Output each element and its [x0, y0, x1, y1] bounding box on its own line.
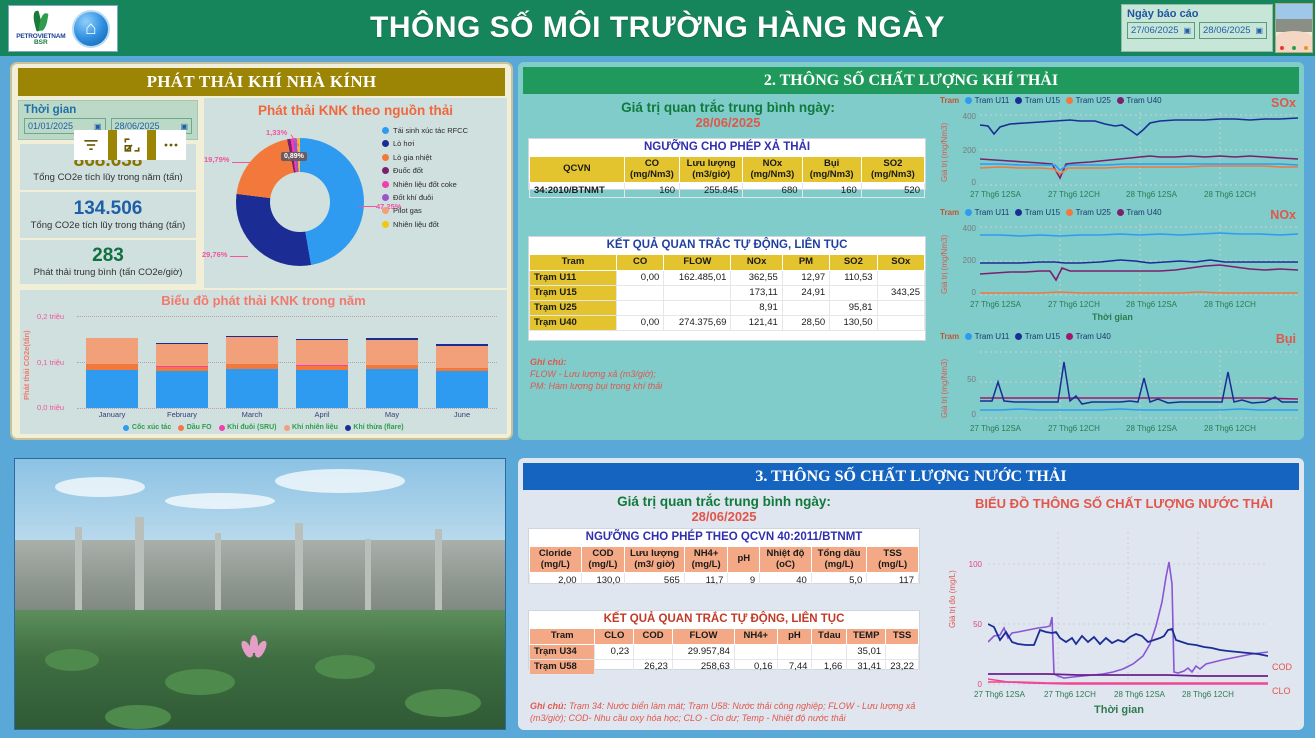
column-header[interactable]: Cloride (mg/L): [530, 547, 582, 573]
legend-swatch: [382, 194, 389, 201]
cell: 23,22: [886, 659, 919, 674]
bar-segment: [226, 369, 278, 408]
table-row: Trạm U58 26,23 258,63 0,16 7,44 1,66 31,…: [530, 659, 919, 674]
cell: [595, 659, 634, 674]
legend-label: Nhiên liệu đốt: [393, 220, 439, 229]
legend-label: Tram U25: [1076, 208, 1111, 217]
legend-item[interactable]: Tái sinh xúc tác RFCC: [382, 126, 502, 135]
table-row: Trạm U15 173,11 24,91 343,25: [530, 285, 925, 300]
wq-plot: [988, 532, 1268, 690]
water-quality-line-chart: BIỂU ĐỒ THÔNG SỐ CHẤT LƯỢNG NƯỚC THẢI Gi…: [946, 492, 1302, 728]
column-header[interactable]: NH4+: [734, 629, 777, 645]
column-header[interactable]: Bụi (mg/Nm3): [802, 157, 861, 183]
bar-column[interactable]: [77, 316, 147, 408]
nox-xtick: 28 Thg6 12CH: [1204, 300, 1256, 309]
cell: 11,7: [684, 573, 728, 588]
cell: 31,41: [847, 659, 886, 674]
legend-label: Tram U40: [1126, 96, 1161, 105]
report-date-from-value: 27/06/2025: [1131, 25, 1179, 36]
legend-label: Tram U15: [1025, 332, 1060, 341]
kpi-card-average: 283 Phát thải trung bình (tấn CO2e/giờ): [20, 240, 196, 284]
legend-label: Tram U40: [1126, 208, 1161, 217]
water-section-title: 3. THÔNG SỐ CHẤT LƯỢNG NƯỚC THẢI: [523, 463, 1299, 490]
legend-swatch: [382, 167, 389, 174]
cell: 9: [728, 573, 760, 588]
legend-item[interactable]: Tram U15: [1015, 332, 1060, 341]
cell: 160: [802, 183, 861, 198]
cell: [812, 644, 847, 659]
legend-label: Lò hơi: [393, 139, 414, 148]
cell: 34:2010/BTNMT: [530, 183, 625, 198]
cell: Trạm U40: [530, 315, 617, 330]
nox-xtitle: Thời gian: [1092, 312, 1133, 322]
cell: 162.485,01: [664, 270, 731, 285]
column-header[interactable]: TEMP: [847, 629, 886, 645]
cell: 8,91: [731, 300, 782, 315]
bar-stack: [296, 339, 348, 408]
filter-icon: [81, 135, 101, 155]
legend-swatch: [382, 127, 389, 134]
air-auto-table-card: KẾT QUẢ QUAN TRẮC TỰ ĐỘNG, LIÊN TỤC Tram…: [528, 236, 926, 341]
bui-param-label: Bụi: [1276, 332, 1296, 346]
cell: [664, 285, 731, 300]
column-header[interactable]: Tram: [530, 255, 617, 271]
kpi-value: 283: [92, 246, 124, 266]
air-average-title: Giá trị quan trắc trung bình ngày:: [528, 100, 928, 115]
legend-label: Đuốc đốt: [393, 166, 423, 175]
legend-item[interactable]: Tram U40: [1117, 96, 1162, 105]
bui-ytick: 0: [952, 410, 976, 419]
cell: [634, 644, 673, 659]
report-date-from[interactable]: 27/06/2025 ▣: [1127, 22, 1195, 39]
wq-series-label-cod: COD: [1272, 662, 1292, 672]
ghg-monthly-bar-chart: Biểu đồ phát thải KNK trong năm Phát thả…: [20, 290, 507, 434]
legend-item[interactable]: Tram U40: [1066, 332, 1111, 341]
cell: 680: [743, 183, 802, 198]
air-average-date: 28/06/2025: [528, 115, 928, 130]
cell: 24,91: [782, 285, 829, 300]
cell: [616, 300, 663, 315]
donut-legend: Tái sinh xúc tác RFCC Lò hơi Lò gia nhiệ…: [382, 126, 502, 233]
legend-label: Tram U11: [975, 208, 1010, 217]
wq-xtitle: Thời gian: [1094, 704, 1144, 716]
bar-segment: [436, 346, 488, 369]
donut-label-highlight: 0,89%: [281, 152, 307, 161]
air-auto-table: Tram CO FLOW NOx PM SO2 SOx Trạm U11 0,0…: [529, 254, 925, 331]
bar-stack: [366, 338, 418, 408]
legend-item[interactable]: Lò gia nhiệt: [382, 153, 502, 162]
column-header[interactable]: Tdau: [812, 629, 847, 645]
legend-item[interactable]: Nhiên liệu đốt: [382, 220, 502, 229]
water-auto-table: Tram CLO COD FLOW NH4+ pH Tdau TEMP TSS …: [529, 628, 919, 675]
sox-xtick: 27 Thg6 12CH: [1048, 190, 1100, 199]
cell: 130,0: [581, 573, 625, 588]
legend-label: Nhiên liệu đốt coke: [393, 180, 457, 189]
cell: [782, 300, 829, 315]
bui-ytick: 50: [952, 375, 976, 384]
table-row: 34:2010/BTNMT 160 255.845 680 160 520: [530, 183, 925, 198]
report-date-label: Ngày báo cáo: [1127, 8, 1267, 20]
nox-ytick: 0: [952, 288, 976, 297]
legend-swatch: [382, 154, 389, 161]
air-note-title: Ghi chú:: [530, 357, 567, 367]
bui-xtick: 28 Thg6 12CH: [1204, 424, 1256, 433]
bar-column[interactable]: [427, 316, 497, 408]
cell: 520: [861, 183, 924, 198]
column-header[interactable]: Tram: [530, 629, 595, 645]
bar-segment: [86, 338, 138, 364]
bar-ytick: 0,0 triệu: [37, 403, 64, 412]
legend-item[interactable]: Tram U25: [1066, 96, 1111, 105]
air-note-line: FLOW - Lưu lượng xả (m3/giờ);: [530, 368, 920, 380]
legend-item[interactable]: Tram U25: [1066, 208, 1111, 217]
nox-xtick: 28 Thg6 12SA: [1126, 300, 1177, 309]
cell: 35,01: [847, 644, 886, 659]
water-auto-caption: KẾT QUẢ QUAN TRẮC TỰ ĐỘNG, LIÊN TỤC: [529, 611, 919, 628]
nox-xtick: 27 Thg6 12CH: [1048, 300, 1100, 309]
bar-stack: [226, 336, 278, 408]
cell: Trạm U11: [530, 270, 617, 285]
cell: [830, 285, 877, 300]
kpi-caption: Tổng CO2e tích lũy trong năm (tấn): [33, 172, 182, 183]
bar-chart-title: Biểu đồ phát thải KNK trong năm: [20, 290, 507, 308]
legend-label: Khí đuôi (SRU): [227, 424, 276, 431]
donut-label: 1,33%: [266, 128, 287, 137]
cell: 160: [624, 183, 679, 198]
legend-label: Dầu FO: [187, 424, 212, 431]
cell: 26,23: [634, 659, 673, 674]
legend-item[interactable]: Tram U11: [965, 332, 1009, 341]
cell: Trạm U25: [530, 300, 617, 315]
legend-label: Lò gia nhiệt: [393, 153, 432, 162]
cell: 565: [625, 573, 685, 588]
column-header[interactable]: pH: [728, 547, 760, 573]
bar-xtick: April: [287, 410, 357, 419]
kpi-value: 134.506: [74, 199, 143, 219]
cell: 0,16: [734, 659, 777, 674]
bar-chart-plot: [77, 316, 497, 408]
report-date-to-value: 28/06/2025: [1203, 25, 1251, 36]
sox-ytick: 400: [952, 112, 976, 121]
cell: 258,63: [672, 659, 734, 674]
legend-title: Tram: [940, 332, 959, 341]
bar-column[interactable]: [357, 316, 427, 408]
sox-line-chart: Tram Tram U11 Tram U15 Tram U25 Tram U40…: [940, 96, 1300, 204]
legend-item[interactable]: Đốt khí đuôi: [382, 193, 502, 202]
cell: 255.845: [680, 183, 743, 198]
legend-label: Pilot gas: [393, 206, 422, 215]
column-header[interactable]: CO (mg/Nm3): [624, 157, 679, 183]
app-header: PETROVIETNAM BSR ⌂ THÔNG SỐ MÔI TRƯỜNG H…: [0, 0, 1315, 56]
legend-label: Tram U15: [1025, 96, 1060, 105]
bar-stack: [436, 344, 488, 408]
bar-segment: [156, 371, 208, 408]
column-header[interactable]: Tổng dầu (mg/L): [811, 547, 867, 573]
cell: 2,00: [530, 573, 582, 588]
column-header[interactable]: Nhiệt độ (oC): [760, 547, 812, 573]
wq-xtick: 27 Thg6 12CH: [1044, 690, 1096, 699]
site-thumbnail-image: [1275, 3, 1313, 53]
donut-graphic: 1,33% 19,79% 29,76% 47,25% 0,89%: [226, 130, 376, 280]
sox-xtick: 28 Thg6 12CH: [1204, 190, 1256, 199]
bar-chart-legend: Cốc xúc tác Dầu FO Khí đuôi (SRU) Khí nh…: [20, 424, 507, 431]
column-header[interactable]: PM: [782, 255, 829, 271]
ghg-panel: PHÁT THẢI KHÍ NHÀ KÍNH: [10, 62, 513, 440]
cell: [877, 300, 924, 315]
air-note-line: PM: Hàm lượng bụi trong khí thải: [530, 380, 920, 392]
bar-stack: [86, 338, 138, 408]
bui-xtick: 28 Thg6 12SA: [1126, 424, 1177, 433]
donut-label: 19,79%: [204, 155, 229, 164]
air-average-block: Giá trị quan trắc trung bình ngày: 28/06…: [528, 100, 928, 130]
nox-ytick: 400: [952, 224, 976, 233]
legend-item[interactable]: Tram U11: [965, 96, 1009, 105]
table-header-row: QCVN CO (mg/Nm3) Lưu lượng (m3/giờ) NOx …: [530, 157, 925, 183]
cell: [616, 285, 663, 300]
water-note: Ghi chú: Trạm 34: Nước biển làm mát; Trạ…: [530, 700, 930, 724]
nox-ylabel: Giá trị (mg/Nm3): [940, 226, 952, 302]
column-header[interactable]: pH: [777, 629, 812, 645]
donut-chart-title: Phát thải KNK theo nguồn thải: [204, 98, 507, 118]
bar-xtick: January: [77, 410, 147, 419]
table-row: Trạm U11 0,00 162.485,01 362,55 12,97 11…: [530, 270, 925, 285]
bar-ytick: 0,1 triệu: [37, 358, 64, 367]
cell: 0,23: [595, 644, 634, 659]
legend-item[interactable]: Tram U15: [1015, 208, 1060, 217]
report-date-panel: Ngày báo cáo 27/06/2025 ▣ 28/06/2025 ▣: [1121, 4, 1273, 52]
bar-ytick: 0,2 triệu: [37, 312, 64, 321]
wq-xtick: 28 Thg6 12CH: [1182, 690, 1234, 699]
bui-legend: Tram Tram U11 Tram U15 Tram U40: [940, 332, 1111, 341]
column-header[interactable]: QCVN: [530, 157, 625, 183]
cell: [877, 270, 924, 285]
kpi-card-month: 134.506 Tổng CO2e tích lũy trong tháng (…: [20, 192, 196, 238]
column-header[interactable]: NH4+ (mg/L): [684, 547, 728, 573]
bui-line-chart: Tram Tram U11 Tram U15 Tram U40 Bụi Giá …: [940, 332, 1300, 438]
bar-segment: [436, 371, 488, 408]
column-header[interactable]: TSS (mg/L): [867, 547, 919, 573]
report-date-to[interactable]: 28/06/2025 ▣: [1199, 22, 1267, 39]
column-header[interactable]: Lưu lượng (m3/ giờ): [625, 547, 685, 573]
water-average-block: Giá trị quan trắc trung bình ngày: 28/06…: [524, 494, 924, 524]
sox-ytick: 0: [952, 178, 976, 187]
ghg-source-donut-chart: Phát thải KNK theo nguồn thải 1,33% 19,7…: [204, 98, 507, 288]
bar-segment: [296, 340, 348, 365]
legend-item[interactable]: Đuốc đốt: [382, 166, 502, 175]
air-threshold-table-card: NGƯỠNG CHO PHÉP XẢ THẢI QCVN CO (mg/Nm3)…: [528, 138, 926, 190]
cell: 117: [867, 573, 919, 588]
legend-label: Tái sinh xúc tác RFCC: [393, 126, 468, 135]
water-threshold-table-card: NGƯỠNG CHO PHÉP THEO QCVN 40:2011/BTNMT …: [528, 528, 920, 584]
cell: 173,11: [731, 285, 782, 300]
ghg-panel-toolbar[interactable]: [74, 130, 199, 160]
bar-xtick: February: [147, 410, 217, 419]
water-average-title: Giá trị quan trắc trung bình ngày:: [524, 494, 924, 509]
wq-xtick: 28 Thg6 12SA: [1114, 690, 1165, 699]
water-threshold-table: Cloride (mg/L) COD (mg/L) Lưu lượng (m3/…: [529, 546, 919, 588]
wq-ytick: 50: [958, 620, 982, 629]
air-note: Ghi chú: FLOW - Lưu lượng xả (m3/giờ); P…: [530, 356, 920, 392]
ghg-filter-from-value: 01/01/2025: [28, 121, 73, 131]
page-title: THÔNG SỐ MÔI TRƯỜNG HÀNG NGÀY: [0, 0, 1315, 56]
cell: 0,00: [616, 315, 663, 330]
focus-mode-icon: [122, 135, 142, 155]
water-auto-table-card: KẾT QUẢ QUAN TRẮC TỰ ĐỘNG, LIÊN TỤC Tram…: [528, 610, 920, 670]
legend-swatch: [382, 140, 389, 147]
cell: 274.375,69: [664, 315, 731, 330]
cell: 12,97: [782, 270, 829, 285]
table-row: Trạm U25 8,91 95,81: [530, 300, 925, 315]
cell: 29.957,84: [672, 644, 734, 659]
legend-item[interactable]: Nhiên liệu đốt coke: [382, 180, 502, 189]
water-threshold-caption: NGƯỠNG CHO PHÉP THEO QCVN 40:2011/BTNMT: [529, 529, 919, 546]
legend-label: Tram U15: [1025, 208, 1060, 217]
sox-plot: [980, 112, 1298, 190]
cell: Trạm U58: [530, 659, 595, 674]
more-options-icon: [161, 135, 181, 155]
bar-segment: [156, 344, 208, 366]
sox-xtick: 28 Thg6 12SA: [1126, 190, 1177, 199]
legend-item[interactable]: Khí nhiên liệu: [284, 424, 338, 431]
ghg-time-filter-label: Thời gian: [24, 104, 192, 116]
bar-column[interactable]: [287, 316, 357, 408]
nox-legend: Tram Tram U11 Tram U15 Tram U25 Tram U40: [940, 208, 1162, 217]
column-header[interactable]: FLOW: [664, 255, 731, 271]
legend-swatch: [382, 207, 389, 214]
nox-line-chart: Tram Tram U11 Tram U15 Tram U25 Tram U40…: [940, 208, 1300, 326]
bar-xtick: March: [217, 410, 287, 419]
air-threshold-caption: NGƯỠNG CHO PHÉP XẢ THẢI: [529, 139, 925, 156]
cell: [664, 300, 731, 315]
column-header[interactable]: SO2: [830, 255, 877, 271]
kpi-caption: Phát thải trung bình (tấn CO2e/giờ): [34, 267, 183, 278]
cell: [734, 644, 777, 659]
bar-segment: [296, 370, 348, 408]
table-header-row: Cloride (mg/L) COD (mg/L) Lưu lượng (m3/…: [530, 547, 919, 573]
legend-label: Tram U11: [975, 332, 1010, 341]
column-header[interactable]: CO: [616, 255, 663, 271]
cell: 7,44: [777, 659, 812, 674]
column-header[interactable]: NOx (mg/Nm3): [743, 157, 802, 183]
column-header[interactable]: SO2 (mg/Nm3): [861, 157, 924, 183]
water-note-text: Trạm 34: Nước biển làm mát; Trạm U58: Nư…: [530, 701, 915, 723]
cell: 121,41: [731, 315, 782, 330]
legend-item[interactable]: Khí đuôi (SRU): [219, 424, 277, 431]
bar-chart-ylabel: Phát thải CO2e(tấn): [22, 318, 36, 413]
legend-label: Tram U11: [975, 96, 1010, 105]
legend-title: Tram: [940, 96, 959, 105]
bar-column[interactable]: [147, 316, 217, 408]
nox-ytick: 200: [952, 256, 976, 265]
air-section-title: 2. THÔNG SỐ CHẤT LƯỢNG KHÍ THẢI: [523, 67, 1299, 94]
cell: 110,53: [830, 270, 877, 285]
legend-item[interactable]: Lò hơi: [382, 139, 502, 148]
legend-item[interactable]: Pilot gas: [382, 206, 502, 215]
air-threshold-table: QCVN CO (mg/Nm3) Lưu lượng (m3/giờ) NOx …: [529, 156, 925, 198]
cell: 40: [760, 573, 812, 588]
legend-label: Đốt khí đuôi: [393, 193, 433, 202]
cell: Trạm U15: [530, 285, 617, 300]
legend-item[interactable]: Dầu FO: [178, 424, 211, 431]
legend-item[interactable]: Tram U11: [965, 208, 1009, 217]
kpi-caption: Tổng CO2e tích lũy trong tháng (tấn): [31, 220, 186, 231]
column-header[interactable]: FLOW: [672, 629, 734, 645]
sox-xtick: 27 Thg6 12SA: [970, 190, 1021, 199]
water-note-title: Ghi chú:: [530, 701, 567, 711]
table-row: 2,00 130,0 565 11,7 9 40 5,0 117: [530, 573, 919, 588]
bar-column[interactable]: [217, 316, 287, 408]
column-header[interactable]: TSS: [886, 629, 919, 645]
legend-label: Tram U25: [1076, 96, 1111, 105]
legend-label: Cốc xúc tác: [132, 424, 171, 431]
cell: 0,00: [616, 270, 663, 285]
bui-plot: [980, 350, 1298, 422]
cell: 130,50: [830, 315, 877, 330]
bar-segment: [86, 370, 138, 408]
wq-ytick: 0: [958, 680, 982, 689]
legend-item[interactable]: Khí thừa (flare): [345, 424, 404, 431]
cell: 343,25: [877, 285, 924, 300]
table-row: Trạm U34 0,23 29.957,84 35,01: [530, 644, 919, 659]
legend-item[interactable]: Cốc xúc tác: [123, 424, 171, 431]
bar-xtick: May: [357, 410, 427, 419]
wq-chart-title: BIỂU ĐỒ THÔNG SỐ CHẤT LƯỢNG NƯỚC THẢI: [946, 496, 1302, 511]
cell: [877, 315, 924, 330]
cell: 362,55: [731, 270, 782, 285]
calendar-icon: ▣: [1183, 26, 1191, 35]
cell: 28,50: [782, 315, 829, 330]
legend-swatch: [382, 221, 389, 228]
refinery-photo: [14, 458, 506, 730]
legend-title: Tram: [940, 208, 959, 217]
column-header[interactable]: Lưu lượng (m3/giờ): [680, 157, 743, 183]
cell: 5,0: [811, 573, 867, 588]
legend-label: Khí nhiên liệu: [292, 424, 338, 431]
cell: 1,66: [812, 659, 847, 674]
bar-segment: [366, 340, 418, 365]
water-average-date: 28/06/2025: [524, 509, 924, 524]
bar-segment: [226, 337, 278, 364]
nox-plot: [980, 224, 1298, 300]
bar-stack: [156, 343, 208, 408]
more-options-button[interactable]: [156, 130, 186, 160]
column-header[interactable]: CLO: [595, 629, 634, 645]
donut-label: 29,76%: [202, 250, 227, 259]
bar-segment: [366, 369, 418, 408]
column-header[interactable]: COD: [634, 629, 673, 645]
wq-series-label-clo: CLO: [1272, 686, 1291, 696]
legend-item[interactable]: Tram U15: [1015, 96, 1060, 105]
bui-xtick: 27 Thg6 12SA: [970, 424, 1021, 433]
nox-xtick: 27 Thg6 12SA: [970, 300, 1021, 309]
nox-param-label: NOx: [1270, 208, 1296, 222]
cell: Trạm U34: [530, 644, 595, 659]
filter-button[interactable]: [74, 130, 108, 160]
cell: [886, 644, 919, 659]
air-auto-caption: KẾT QUẢ QUAN TRẮC TỰ ĐỘNG, LIÊN TỤC: [529, 237, 925, 254]
bui-xtick: 27 Thg6 12CH: [1048, 424, 1100, 433]
wq-ytick: 100: [958, 560, 982, 569]
sox-param-label: SOx: [1271, 96, 1296, 110]
column-header[interactable]: SOx: [877, 255, 924, 271]
bar-xtick: June: [427, 410, 497, 419]
table-header-row: Tram CO FLOW NOx PM SO2 SOx: [530, 255, 925, 271]
legend-item[interactable]: Tram U40: [1117, 208, 1162, 217]
focus-mode-button[interactable]: [117, 130, 147, 160]
column-header[interactable]: COD (mg/L): [581, 547, 625, 573]
bui-ylabel: Giá trị (mg/Nm3): [940, 350, 952, 426]
column-header[interactable]: NOx: [731, 255, 782, 271]
